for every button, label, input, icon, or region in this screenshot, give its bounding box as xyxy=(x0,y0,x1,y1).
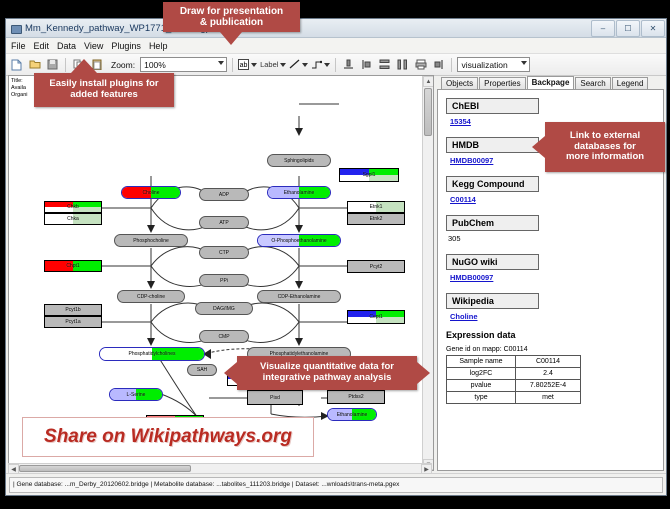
node-label: Choline xyxy=(143,190,160,196)
save-icon[interactable] xyxy=(45,57,60,72)
node-dag[interactable]: DAG/IMG xyxy=(195,302,253,315)
menu-edit[interactable]: Edit xyxy=(34,41,50,51)
canvas-horizontal-scrollbar[interactable]: ◀ ▶ xyxy=(8,464,432,473)
wikipedia-link[interactable]: Choline xyxy=(450,312,655,321)
gene-label: Sgpl1 xyxy=(363,172,376,178)
chevron-down-icon[interactable] xyxy=(218,61,224,65)
gene-chka[interactable]: Chka xyxy=(44,213,102,225)
text-label-icon[interactable]: ab xyxy=(238,59,257,70)
window-controls[interactable]: – ☐ ✕ xyxy=(591,20,666,37)
node-sphingolipids[interactable]: Sphingolipids xyxy=(267,154,331,167)
gene-label: Cept1 xyxy=(369,314,382,320)
callout-links-arrow-icon xyxy=(532,136,545,158)
pubchem-value: 305 xyxy=(448,234,655,243)
section-heading: Wikipedia xyxy=(446,293,539,309)
node-o-phosphoethanolamine[interactable]: O-Phosphoethanolamine xyxy=(257,234,341,247)
node-label: CTP xyxy=(219,250,229,256)
zoom-combo[interactable]: 100% xyxy=(140,57,227,72)
table-row: pvalue 7.80252E-4 xyxy=(447,380,581,392)
node-ethanolamine-bottom[interactable]: Ethanolamine xyxy=(327,408,377,421)
minimize-button[interactable]: – xyxy=(591,20,615,37)
section-wikipedia: Wikipedia Choline xyxy=(446,291,655,321)
node-label: Ethanolamine xyxy=(284,190,315,196)
node-ctp[interactable]: CTP xyxy=(199,246,249,259)
pathway-canvas[interactable]: Title: Availa Organi xyxy=(8,75,434,471)
tab-backpage[interactable]: Backpage xyxy=(527,76,575,89)
callout-visualize-arrow-right-icon xyxy=(417,362,430,384)
open-folder-icon[interactable] xyxy=(27,57,42,72)
row-key: type xyxy=(447,392,516,404)
gene-chkb[interactable]: Chkb xyxy=(44,201,102,213)
expression-data-title: Expression data xyxy=(446,330,655,340)
gene-id-line: Gene id on mapp: C00114 xyxy=(446,346,655,353)
maximize-button[interactable]: ☐ xyxy=(616,20,640,37)
row-key: pvalue xyxy=(447,380,516,392)
node-label: CDP-Ethanolamine xyxy=(278,294,321,300)
chevron-down-icon[interactable] xyxy=(324,63,330,67)
callout-plugins: Easily install plugins for added feature… xyxy=(34,73,174,107)
callout-links: Link to external databases for more info… xyxy=(545,122,665,172)
callout-line: integrative pathway analysis xyxy=(260,373,394,384)
node-choline[interactable]: Choline xyxy=(121,186,181,199)
tab-search[interactable]: Search xyxy=(575,77,610,89)
node-sah[interactable]: SAH xyxy=(187,364,217,376)
callout-line: Link to external xyxy=(566,131,644,142)
node-ppi[interactable]: PPi xyxy=(199,274,249,287)
callout-draw-arrow-icon xyxy=(220,32,242,45)
table-row: log2FC 2.4 xyxy=(447,368,581,380)
callout-visualize: Visualize quantitative data for integrat… xyxy=(237,356,417,390)
node-adp[interactable]: ADP xyxy=(199,188,249,201)
toolbar-separator-1 xyxy=(65,58,66,72)
svg-text:ab: ab xyxy=(240,62,248,69)
distribute-horizontal-icon[interactable] xyxy=(395,57,410,72)
gene-label: Ptdss2 xyxy=(348,394,363,400)
section-heading: PubChem xyxy=(446,215,539,231)
node-label: CMP xyxy=(218,334,229,340)
callout-line: & publication xyxy=(180,17,283,29)
node-label: Sphingolipids xyxy=(284,158,314,164)
gene-etnk2[interactable]: Etnk2 xyxy=(347,213,405,225)
node-label: DAG/IMG xyxy=(213,306,235,312)
node-phosphatidylcholines[interactable]: Phosphatidylcholines xyxy=(99,347,205,361)
node-label: Phosphatidylcholines xyxy=(129,351,176,357)
tab-objects[interactable]: Objects xyxy=(441,77,478,89)
node-label: PPi xyxy=(220,278,228,284)
node-label: ATP xyxy=(219,220,228,226)
table-row: type met xyxy=(447,392,581,404)
share-text: Share on Wikipathways.org xyxy=(44,426,292,448)
toolbar-separator-2 xyxy=(232,58,233,72)
section-heading: HMDB xyxy=(446,137,539,153)
gene-label: Etnk1 xyxy=(370,204,383,210)
zoom-label: Zoom: xyxy=(111,60,135,70)
gene-label: Chkb xyxy=(67,204,79,210)
row-value: C00114 xyxy=(516,356,581,368)
toolbar-separator-3 xyxy=(335,58,336,72)
visualization-value: visualization xyxy=(461,60,507,70)
chevron-down-icon[interactable] xyxy=(521,61,527,65)
chevron-down-icon[interactable] xyxy=(302,63,308,67)
chevron-down-icon[interactable] xyxy=(251,63,257,67)
gene-label: Pisd xyxy=(270,395,280,401)
node-cmp[interactable]: CMP xyxy=(199,330,249,343)
callout-line: more information xyxy=(566,152,644,163)
label-tool-text: Label xyxy=(260,60,278,69)
scroll-up-arrow-icon[interactable]: ▲ xyxy=(423,76,434,87)
app-icon xyxy=(10,23,21,34)
menu-view[interactable]: View xyxy=(84,41,103,51)
status-text: | Gene database: ...m_Derby_20120602.bri… xyxy=(9,477,663,493)
table-row: Sample name C00114 xyxy=(447,356,581,368)
menu-file[interactable]: File xyxy=(11,41,26,51)
chevron-down-icon[interactable] xyxy=(280,63,286,67)
row-value: 7.80252E-4 xyxy=(516,380,581,392)
menu-help[interactable]: Help xyxy=(149,41,168,51)
gene-label: Etnk2 xyxy=(370,216,383,222)
line-tool-icon[interactable] xyxy=(289,59,308,70)
screenshot-root: Mm_Kennedy_pathway_WP1771_45176.gpml – ☐… xyxy=(0,0,670,509)
gene-pcyt1a[interactable]: Pcyt1a xyxy=(44,316,102,328)
row-value: met xyxy=(516,392,581,404)
node-label: L-Serine xyxy=(127,392,146,398)
toolbar-separator-4 xyxy=(451,58,452,72)
node-label: SAH xyxy=(197,367,207,373)
sidebar-tabs[interactable]: Objects Properties Backpage Search Legen… xyxy=(437,75,664,89)
gene-label: Pcyt2 xyxy=(370,264,383,270)
section-heading: ChEBI xyxy=(446,98,539,114)
expression-table: Sample name C00114 log2FC 2.4 pvalue 7.8… xyxy=(446,355,581,404)
gene-label: Pcyt1b xyxy=(65,307,80,313)
callout-line: Draw for presentation xyxy=(180,6,283,18)
row-key: log2FC xyxy=(447,368,516,380)
label-tool[interactable]: Label xyxy=(260,60,286,69)
node-label: ADP xyxy=(219,192,229,198)
node-atp[interactable]: ATP xyxy=(199,216,249,229)
node-phosphocholine[interactable]: Phosphocholine xyxy=(114,234,188,247)
gene-cept1[interactable]: Cept1 xyxy=(347,310,405,324)
callout-visualize-arrow-left-icon xyxy=(224,362,237,384)
nugo-link[interactable]: HMDB00097 xyxy=(450,273,655,282)
row-value: 2.4 xyxy=(516,368,581,380)
tab-properties[interactable]: Properties xyxy=(479,77,525,89)
gene-label: Chka xyxy=(67,216,79,222)
print-icon[interactable] xyxy=(413,57,428,72)
node-label: Ethanolamine xyxy=(337,412,368,418)
gene-chpt1[interactable]: Chpt1 xyxy=(44,260,102,272)
scroll-thumb[interactable] xyxy=(19,465,191,472)
distribute-vertical-icon[interactable] xyxy=(377,57,392,72)
tab-legend[interactable]: Legend xyxy=(612,77,649,89)
node-cdp-choline[interactable]: CDP-choline xyxy=(117,290,185,303)
callout-share: Share on Wikipathways.org xyxy=(22,417,314,457)
node-cdp-ethanolamine[interactable]: CDP-Ethanolamine xyxy=(257,290,341,303)
menu-data[interactable]: Data xyxy=(57,41,76,51)
gene-label: Pcyt1a xyxy=(65,319,80,325)
gene-pisd[interactable]: Pisd xyxy=(247,390,303,405)
gene-etnk1[interactable]: Etnk1 xyxy=(347,201,405,213)
callout-plugins-arrow-icon xyxy=(71,59,97,73)
callout-draw: Draw for presentation & publication xyxy=(163,2,300,32)
gene-ptdss2[interactable]: Ptdss2 xyxy=(327,390,385,404)
menu-plugins[interactable]: Plugins xyxy=(111,41,141,51)
connector-tool-icon[interactable] xyxy=(311,59,330,70)
close-button[interactable]: ✕ xyxy=(641,20,665,37)
section-pubchem: PubChem 305 xyxy=(446,213,655,243)
status-bar: | Gene database: ...m_Derby_20120602.bri… xyxy=(6,473,666,495)
align-right-icon[interactable] xyxy=(431,57,446,72)
menu-bar[interactable]: File Edit Data View Plugins Help xyxy=(6,38,666,54)
visualization-combo[interactable]: visualization xyxy=(457,57,530,72)
section-heading: Kegg Compound xyxy=(446,176,539,192)
canvas-vertical-scrollbar[interactable]: ▲ ▼ xyxy=(422,76,433,470)
section-heading: NuGO wiki xyxy=(446,254,539,270)
kegg-link[interactable]: C00114 xyxy=(450,195,655,204)
node-label: O-Phosphoethanolamine xyxy=(271,238,326,244)
gene-label: Chpt1 xyxy=(66,263,79,269)
gene-pcyt2[interactable]: Pcyt2 xyxy=(347,260,405,273)
callout-line: added features xyxy=(49,90,158,101)
new-file-icon[interactable] xyxy=(9,57,24,72)
align-left-icon[interactable] xyxy=(359,57,374,72)
node-label: Phosphocholine xyxy=(133,238,169,244)
node-label: CDP-choline xyxy=(137,294,165,300)
section-kegg: Kegg Compound C00114 xyxy=(446,174,655,204)
section-nugo: NuGO wiki HMDB00097 xyxy=(446,252,655,282)
node-ethanolamine[interactable]: Ethanolamine xyxy=(267,186,331,199)
title-bar: Mm_Kennedy_pathway_WP1771_45176.gpml – ☐… xyxy=(6,19,666,38)
scroll-thumb[interactable] xyxy=(424,88,432,136)
align-bottom-icon[interactable] xyxy=(341,57,356,72)
hscroll-track[interactable]: ◀ ▶ xyxy=(8,463,432,473)
zoom-value: 100% xyxy=(144,60,166,70)
gene-sgpl1[interactable]: Sgpl1 xyxy=(339,168,399,182)
gene-pcyt1b[interactable]: Pcyt1b xyxy=(44,304,102,316)
row-key: Sample name xyxy=(447,356,516,368)
node-l-serine-left[interactable]: L-Serine xyxy=(109,388,163,401)
